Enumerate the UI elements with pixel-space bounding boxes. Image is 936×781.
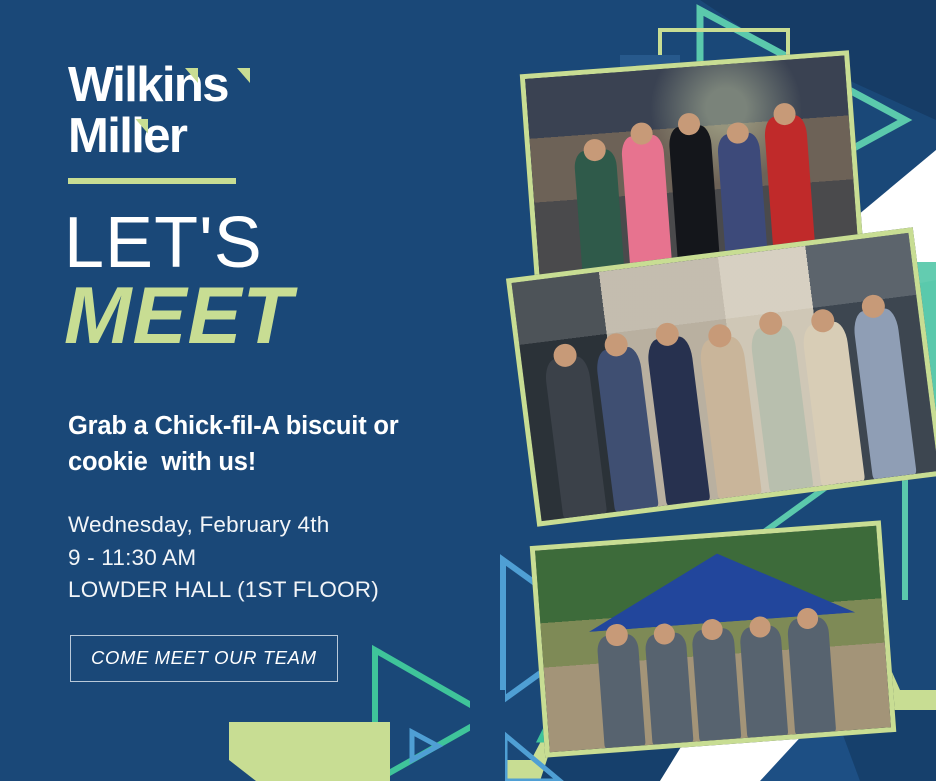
headline-line-lets: LET'S <box>64 210 293 276</box>
event-date: Wednesday, February 4th <box>68 509 379 542</box>
logo-text-miller: Miller <box>68 109 186 163</box>
logo-accent-triangle-icon <box>237 68 250 83</box>
logo-line-wilkins: Wilkins <box>68 62 228 110</box>
headline: LET'S MEET <box>64 210 293 355</box>
brand-logo: Wilkins Miller <box>68 62 228 160</box>
event-time: 9 - 11:30 AM <box>68 542 379 575</box>
accent-rule <box>68 178 236 184</box>
logo-line-miller: Miller <box>68 113 228 161</box>
subheadline: Grab a Chick-fil-A biscuit or cookie wit… <box>68 408 448 480</box>
event-flyer: Wilkins Miller LET'S MEET Grab a Chick-f… <box>0 0 936 781</box>
headline-line-meet: MEET <box>64 278 293 355</box>
outdoor-tent-group-photo <box>530 520 897 757</box>
come-meet-our-team-button[interactable]: COME MEET OUR TEAM <box>70 635 338 682</box>
office-team-group-photo <box>506 227 936 526</box>
event-location: LOWDER HALL (1ST FLOOR) <box>68 574 379 607</box>
logo-text-wilkins: Wilkins <box>68 58 228 112</box>
event-details: Wednesday, February 4th 9 - 11:30 AM LOW… <box>68 509 379 607</box>
